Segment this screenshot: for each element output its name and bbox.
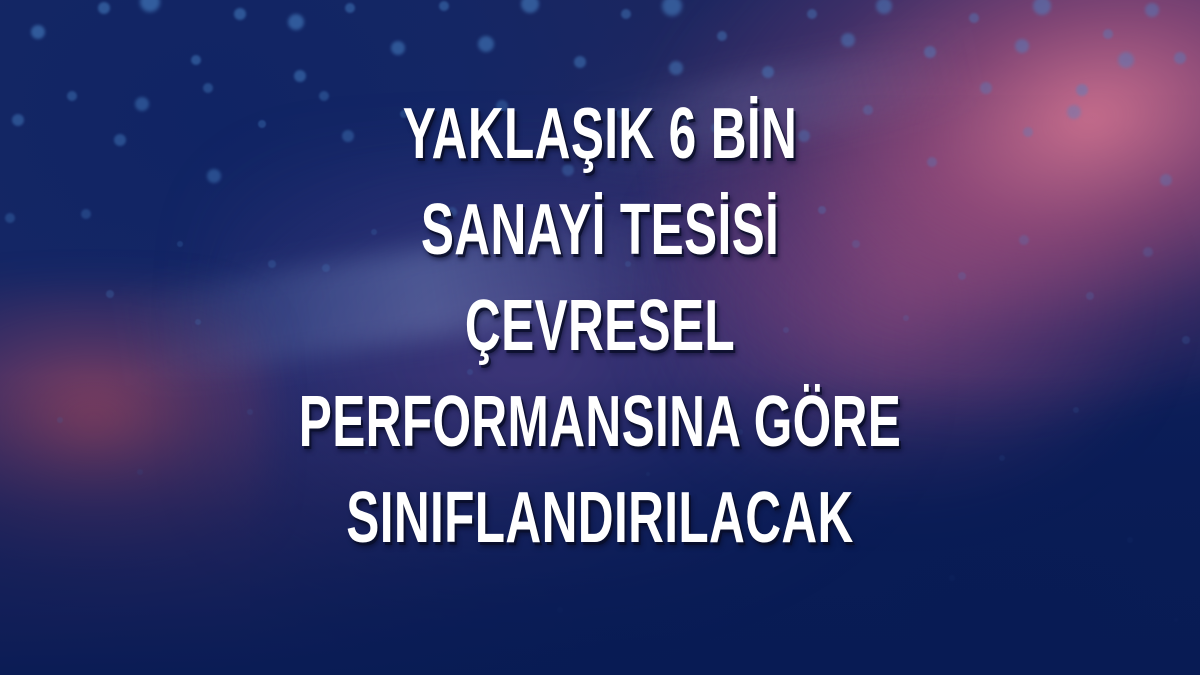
headline-line-2: SANAYİ TESİSİ xyxy=(214,182,986,278)
headline-line-4: PERFORMANSINA GÖRE xyxy=(214,374,986,470)
news-headline-card: YAKLAŞIK 6 BİN SANAYİ TESİSİ ÇEVRESEL PE… xyxy=(0,0,1200,675)
headline-line-5: SINIFLANDIRILACAK xyxy=(214,470,986,566)
headline-line-3: ÇEVRESEL xyxy=(214,278,986,374)
headline-line-1: YAKLAŞIK 6 BİN xyxy=(214,86,986,182)
headline-text: YAKLAŞIK 6 BİN SANAYİ TESİSİ ÇEVRESEL PE… xyxy=(0,86,1200,566)
